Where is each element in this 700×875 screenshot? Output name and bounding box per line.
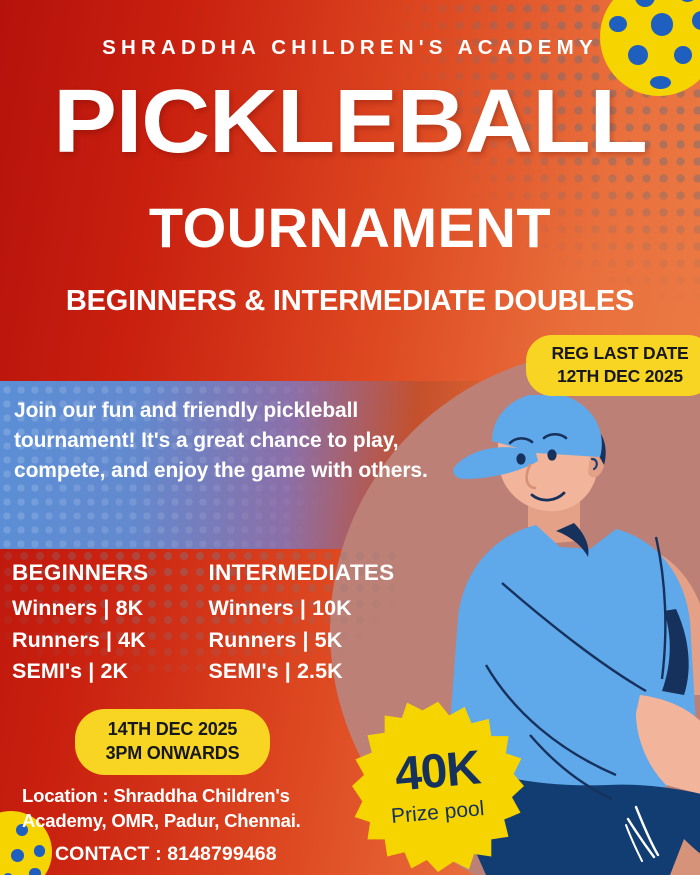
academy-name: SHRADDHA CHILDREN'S ACADEMY — [0, 36, 700, 60]
ball-hole — [692, 11, 700, 30]
location-line2: Academy, OMR, Padur, Chennai. — [22, 809, 352, 834]
ball-hole — [635, 0, 655, 7]
page-title: PICKLEBALL — [0, 78, 700, 166]
ball-hole — [678, 0, 697, 2]
prize-row: SEMI's | 2.5K — [208, 656, 394, 688]
prize-column-intermediates: INTERMEDIATES Winners | 10K Runners | 5K… — [208, 560, 394, 688]
prize-pool-amount: 40K — [394, 746, 483, 799]
ball-hole — [609, 16, 627, 33]
description-text: Join our fun and friendly pickleball tou… — [14, 396, 454, 485]
prize-column-heading: INTERMEDIATES — [208, 560, 394, 586]
pickleball-tournament-poster: SHRADDHA CHILDREN'S ACADEMY PICKLEBALL T… — [0, 0, 700, 875]
reg-badge-line2: 12TH DEC 2025 — [536, 365, 700, 388]
prize-pool-text-group: 40K Prize pool — [352, 700, 524, 872]
prize-column-beginners: BEGINNERS Winners | 8K Runners | 4K SEMI… — [12, 560, 148, 688]
prize-pool-label: Prize pool — [391, 798, 486, 827]
ball-hole — [29, 868, 40, 875]
event-date-line2: 3PM ONWARDS — [85, 741, 260, 765]
prize-row: SEMI's | 2K — [12, 656, 148, 688]
prize-breakdown: BEGINNERS Winners | 8K Runners | 4K SEMI… — [12, 560, 394, 688]
location-line1: Location : Shraddha Children's — [22, 784, 352, 809]
registration-deadline-badge: REG LAST DATE 12TH DEC 2025 — [526, 335, 700, 396]
contact-text: CONTACT : 8148799468 — [55, 843, 277, 866]
prize-pool-badge: 40K Prize pool — [352, 700, 524, 872]
title-tournament: TOURNAMENT — [0, 200, 700, 256]
prize-column-heading: BEGINNERS — [12, 560, 148, 586]
ball-hole — [34, 845, 45, 856]
prize-row: Winners | 8K — [12, 593, 148, 625]
location-text: Location : Shraddha Children's Academy, … — [22, 784, 352, 833]
reg-badge-line1: REG LAST DATE — [536, 342, 700, 365]
event-date-line1: 14TH DEC 2025 — [85, 717, 260, 741]
prize-row: Runners | 4K — [12, 625, 148, 657]
subtitle-categories: BEGINNERS & INTERMEDIATE DOUBLES — [0, 285, 700, 318]
event-date-badge: 14TH DEC 2025 3PM ONWARDS — [75, 709, 270, 775]
prize-row: Winners | 10K — [208, 593, 394, 625]
ball-hole — [651, 13, 673, 35]
prize-row: Runners | 5K — [208, 625, 394, 657]
ball-hole — [11, 849, 24, 862]
